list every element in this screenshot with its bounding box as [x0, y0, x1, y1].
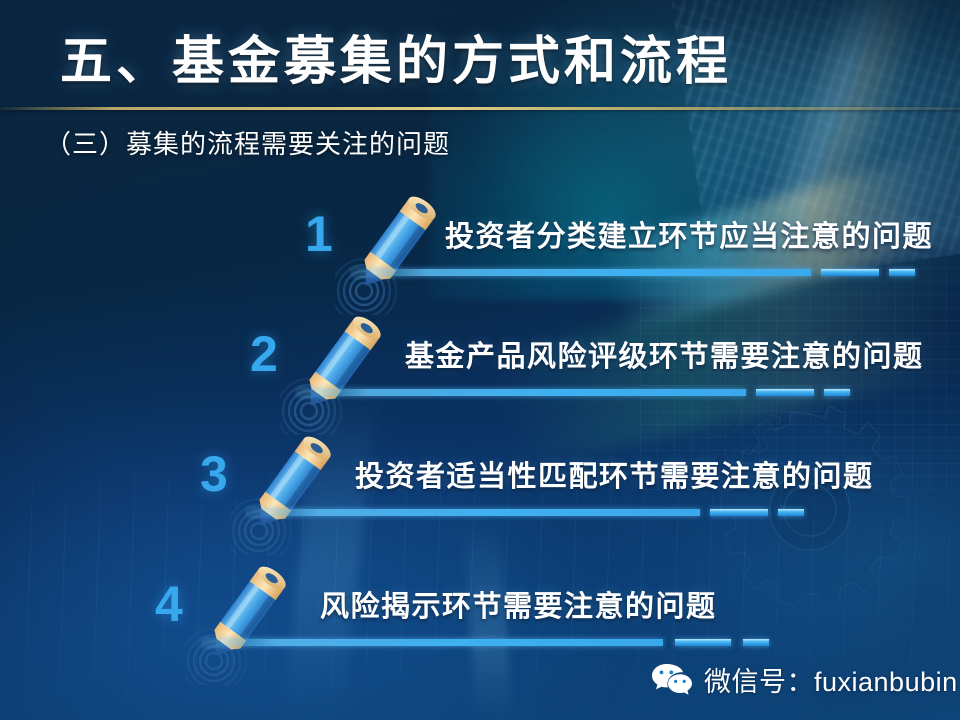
wechat-id-label: 微信号：fuxianbubin [704, 660, 958, 699]
item-rule-dash-1 [710, 509, 768, 516]
item-rule-dash-2 [778, 509, 804, 516]
item-rule-main [248, 509, 700, 516]
item-number: 4 [155, 579, 183, 629]
page-subtitle: （三）募集的流程需要关注的问题 [45, 124, 450, 161]
item-rule-main [298, 389, 746, 396]
item-rule-main [203, 639, 663, 646]
pencil-icon [335, 185, 455, 315]
item-text: 投资者适当性匹配环节需要注意的问题 [355, 453, 874, 495]
item-number: 1 [305, 209, 333, 259]
item-text: 基金产品风险评级环节需要注意的问题 [405, 333, 924, 375]
title-divider [0, 107, 960, 110]
wechat-icon [650, 662, 694, 696]
background-gears-image [690, 330, 960, 660]
item-text: 风险揭示环节需要注意的问题 [320, 583, 717, 625]
item-rule-dash-2 [824, 389, 850, 396]
item-rule-dash-2 [743, 639, 769, 646]
page-title: 五、基金募集的方式和流程 [60, 32, 760, 94]
item-rule-dash-1 [756, 389, 814, 396]
pencil-icon [280, 305, 400, 435]
pencil-icon [230, 425, 350, 555]
item-rule-dash-1 [675, 639, 731, 646]
wechat-watermark: 微信号：fuxianbubin [650, 655, 950, 703]
item-number: 3 [200, 449, 228, 499]
item-rule-dash-2 [889, 269, 915, 276]
pencil-icon [185, 555, 305, 685]
item-text: 投资者分类建立环节应当注意的问题 [445, 213, 933, 255]
item-rule-dash-1 [821, 269, 879, 276]
slide-canvas: 五、基金募集的方式和流程 （三）募集的流程需要关注的问题 1 [0, 0, 960, 720]
item-rule-main [353, 269, 811, 276]
item-number: 2 [250, 329, 278, 379]
